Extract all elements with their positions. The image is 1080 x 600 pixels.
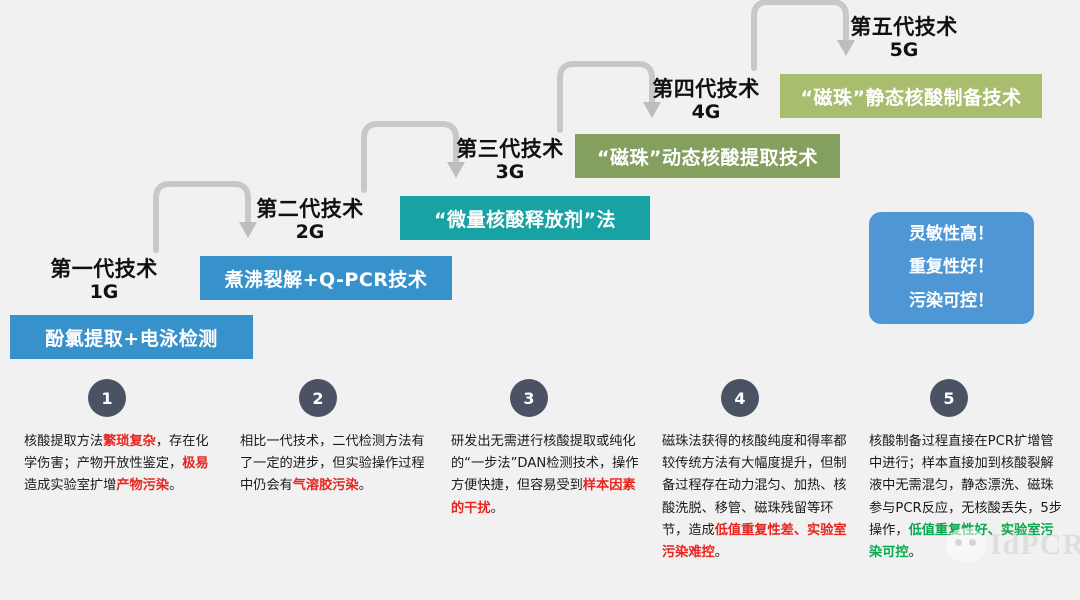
step-circle-4[interactable]: 4 bbox=[721, 379, 759, 417]
generation-code-2: 2G bbox=[212, 222, 408, 243]
note-column-4: 磁珠法获得的核酸纯度和得率都较传统方法有大幅度提升，但制备过程存在动力混匀、加热… bbox=[662, 431, 858, 564]
note-segment: 气溶胶污染 bbox=[293, 478, 359, 493]
note-segment: 。 bbox=[715, 545, 728, 560]
step-circle-3[interactable]: 3 bbox=[510, 379, 548, 417]
benefit-line-2: 重复性好！ bbox=[909, 251, 994, 284]
note-column-1: 核酸提取方法繁琐复杂，存在化学伤害；产物开放性鉴定，极易造成实验室扩增产物污染。 bbox=[24, 431, 220, 498]
generation-code-1: 1G bbox=[6, 282, 202, 303]
step-circle-2[interactable]: 2 bbox=[299, 379, 337, 417]
note-segment: 。 bbox=[909, 545, 922, 560]
technology-bar-2g[interactable]: 煮沸裂解+Q-PCR技术 bbox=[200, 256, 452, 300]
note-segment: 极易 bbox=[182, 456, 208, 471]
generation-name-4: 第四代技术 bbox=[608, 78, 804, 101]
generation-code-5: 5G bbox=[806, 40, 1002, 61]
technology-bar-5g[interactable]: “磁珠”静态核酸制备技术 bbox=[780, 74, 1042, 118]
generation-name-1: 第一代技术 bbox=[6, 258, 202, 281]
step-circle-1[interactable]: 1 bbox=[88, 379, 126, 417]
generation-name-2: 第二代技术 bbox=[212, 198, 408, 221]
generation-title-1: 第一代技术 1G bbox=[6, 258, 202, 302]
note-segment: 。 bbox=[491, 501, 504, 516]
note-segment: 。 bbox=[359, 478, 372, 493]
benefit-line-1: 灵敏性高！ bbox=[909, 218, 994, 251]
note-segment: 繁琐复杂 bbox=[103, 434, 156, 449]
note-column-3: 研发出无需进行核酸提取或纯化的“一步法”DAN检测技术，操作方便快捷，但容易受到… bbox=[451, 431, 647, 520]
step-circle-5[interactable]: 5 bbox=[930, 379, 968, 417]
note-segment: 产物污染 bbox=[116, 478, 169, 493]
generation-title-2: 第二代技术 2G bbox=[212, 198, 408, 242]
note-column-2: 相比一代技术，二代检测方法有了一定的进步，但实验操作过程中仍会有气溶胶污染。 bbox=[240, 431, 436, 498]
technology-bar-4g[interactable]: “磁珠”动态核酸提取技术 bbox=[575, 134, 840, 178]
slide-canvas: 第一代技术 1G 第二代技术 2G 第三代技术 3G 第四代技术 4G 第五代技… bbox=[0, 0, 1080, 600]
generation-name-5: 第五代技术 bbox=[806, 16, 1002, 39]
note-segment: 造成实验室扩增 bbox=[24, 478, 116, 493]
generation-code-4: 4G bbox=[608, 102, 804, 123]
note-column-5: 核酸制备过程直接在PCR扩增管中进行；样本直接加到核酸裂解液中无需混匀，静态漂洗… bbox=[869, 431, 1065, 564]
generation-title-5: 第五代技术 5G bbox=[806, 16, 1002, 60]
note-segment: 。 bbox=[169, 478, 182, 493]
note-segment: 核酸提取方法 bbox=[24, 434, 103, 449]
generation-title-4: 第四代技术 4G bbox=[608, 78, 804, 122]
technology-bar-3g[interactable]: “微量核酸释放剂”法 bbox=[400, 196, 650, 240]
benefit-callout: 灵敏性高！ 重复性好！ 污染可控！ bbox=[869, 212, 1034, 324]
benefit-line-3: 污染可控！ bbox=[909, 285, 994, 318]
technology-bar-1g[interactable]: 酚氯提取+电泳检测 bbox=[10, 315, 253, 359]
